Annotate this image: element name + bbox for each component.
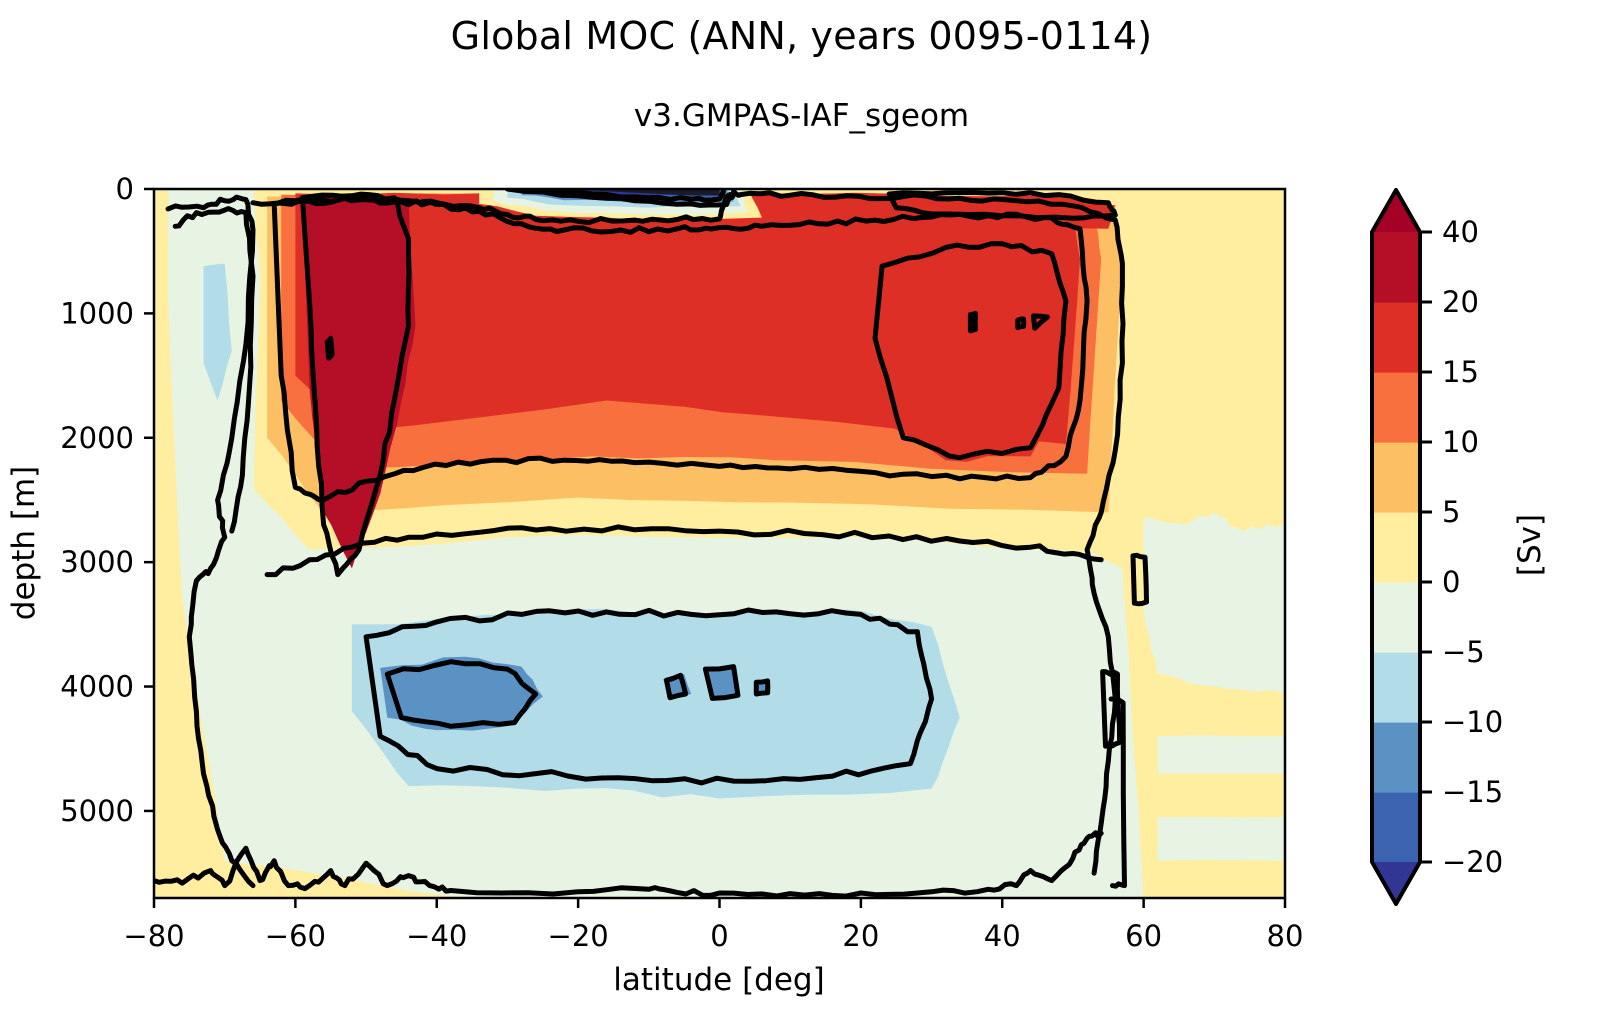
- x-tick-label: −40: [406, 919, 467, 953]
- colorbar-band[interactable]: [1372, 652, 1420, 723]
- colorbar-band[interactable]: [1372, 372, 1420, 443]
- contour-fill-layer: [154, 187, 1286, 899]
- colorbar-extend-under: [1372, 862, 1420, 904]
- x-tick-label: −80: [123, 919, 184, 953]
- y-tick-label: 2000: [60, 421, 134, 455]
- y-tick-label: 0: [116, 172, 134, 206]
- colorbar-tick-label: −5: [1442, 635, 1485, 669]
- y-tick-label: 1000: [60, 296, 134, 330]
- band-arctic-mint-2: [1158, 735, 1286, 773]
- colorbar-tick-label: 20: [1442, 285, 1479, 319]
- colorbar-tick-label: 15: [1442, 355, 1479, 389]
- colorbar-band[interactable]: [1372, 722, 1420, 793]
- y-tick-label: 3000: [60, 545, 134, 579]
- band-arctic-mint-1: [1144, 512, 1285, 692]
- colorbar-band[interactable]: [1372, 442, 1420, 513]
- colorbar-band[interactable]: [1372, 582, 1420, 653]
- contour-blob-nh-a: [970, 313, 975, 330]
- x-tick-label: −20: [548, 919, 609, 953]
- colorbar-tick-label: −10: [1442, 705, 1503, 739]
- colorbar-band[interactable]: [1372, 302, 1420, 373]
- y-tick-label: 5000: [60, 794, 134, 828]
- x-axis: −80−60−40−20020406080: [123, 898, 1303, 953]
- x-tick-label: 0: [710, 919, 728, 953]
- moc-contour-plot: −80−60−40−20020406080 010002000300040005…: [0, 0, 1603, 1030]
- y-axis-label: depth [m]: [6, 466, 42, 620]
- colorbar-band[interactable]: [1372, 232, 1420, 303]
- y-tick-label: 4000: [60, 670, 134, 704]
- x-tick-label: 80: [1267, 919, 1304, 953]
- colorbar-tick-label: 5: [1442, 495, 1460, 529]
- x-axis-label: latitude [deg]: [613, 962, 824, 998]
- colorbar[interactable]: −20−15−10−50510152040: [1372, 190, 1503, 904]
- colorbar-extend-over: [1372, 190, 1420, 232]
- colorbar-tick-label: −20: [1442, 845, 1503, 879]
- figure-canvas: Global MOC (ANN, years 0095-0114) v3.GMP…: [0, 0, 1603, 1030]
- colorbar-tick-label: 40: [1442, 215, 1479, 249]
- colorbar-label: [Sv]: [1512, 514, 1548, 576]
- x-tick-label: −60: [265, 919, 326, 953]
- x-tick-label: 20: [842, 919, 879, 953]
- x-tick-label: 60: [1125, 919, 1162, 953]
- band-arctic-mint-3: [1158, 817, 1286, 861]
- x-tick-label: 40: [984, 919, 1021, 953]
- contour-20sv-blob-south-a: [327, 338, 332, 358]
- y-axis: 010002000300040005000: [60, 172, 154, 828]
- colorbar-tick-label: −15: [1442, 775, 1503, 809]
- colorbar-band[interactable]: [1372, 792, 1420, 863]
- colorbar-tick-label: 0: [1442, 565, 1460, 599]
- colorbar-band[interactable]: [1372, 512, 1420, 583]
- colorbar-tick-label: 10: [1442, 425, 1479, 459]
